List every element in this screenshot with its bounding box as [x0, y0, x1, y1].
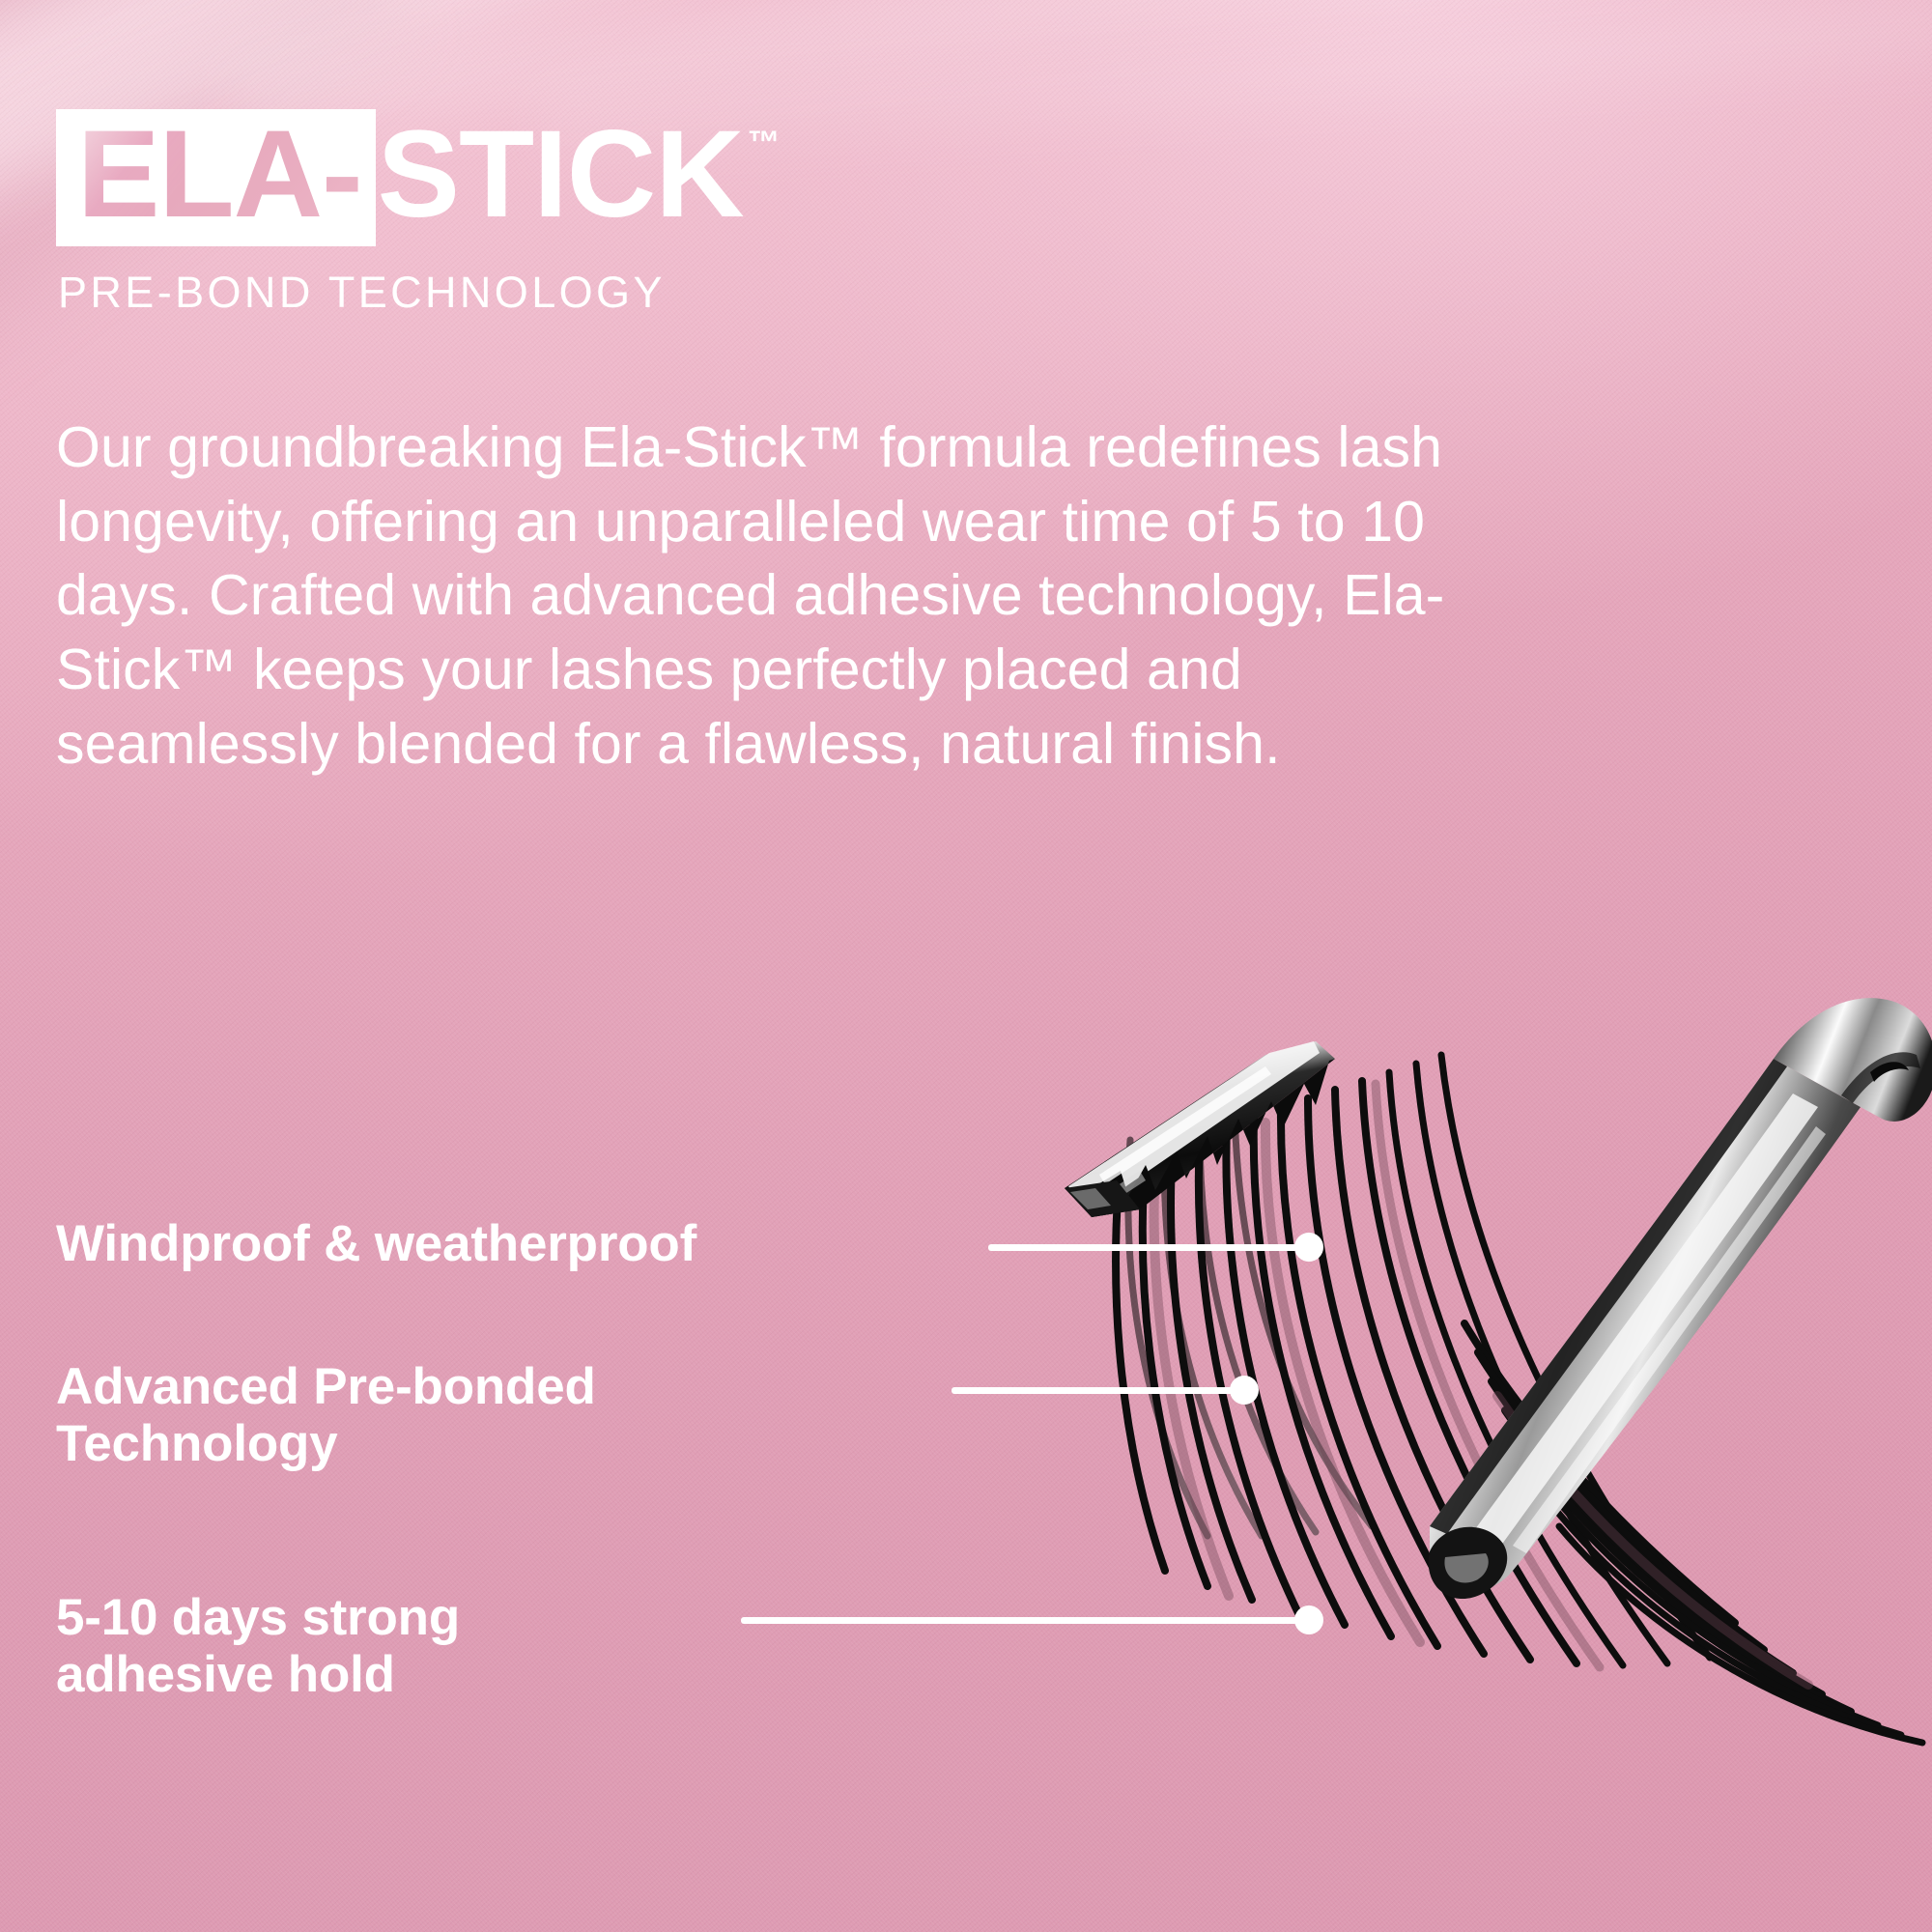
feature-label-windproof: Windproof & weatherproof — [56, 1215, 696, 1272]
connector-line-icon — [988, 1244, 1297, 1251]
feature-label-adhesive-hold: 5-10 days strong adhesive hold — [56, 1589, 460, 1704]
promo-content: ELA- STICK ™ PRE-BOND TECHNOLOGY Our gro… — [0, 0, 1932, 1932]
feature-list: Windproof & weatherproof Advanced Pre-bo… — [0, 0, 1932, 1932]
feature-connector-3 — [741, 1605, 1323, 1634]
connector-dot-icon — [1230, 1376, 1259, 1405]
connector-dot-icon — [1294, 1233, 1323, 1262]
feature-connector-2 — [952, 1376, 1259, 1405]
connector-line-icon — [741, 1617, 1297, 1624]
connector-line-icon — [952, 1387, 1233, 1394]
feature-connector-1 — [988, 1233, 1323, 1262]
connector-dot-icon — [1294, 1605, 1323, 1634]
feature-label-prebonded: Advanced Pre-bonded Technology — [56, 1358, 596, 1473]
